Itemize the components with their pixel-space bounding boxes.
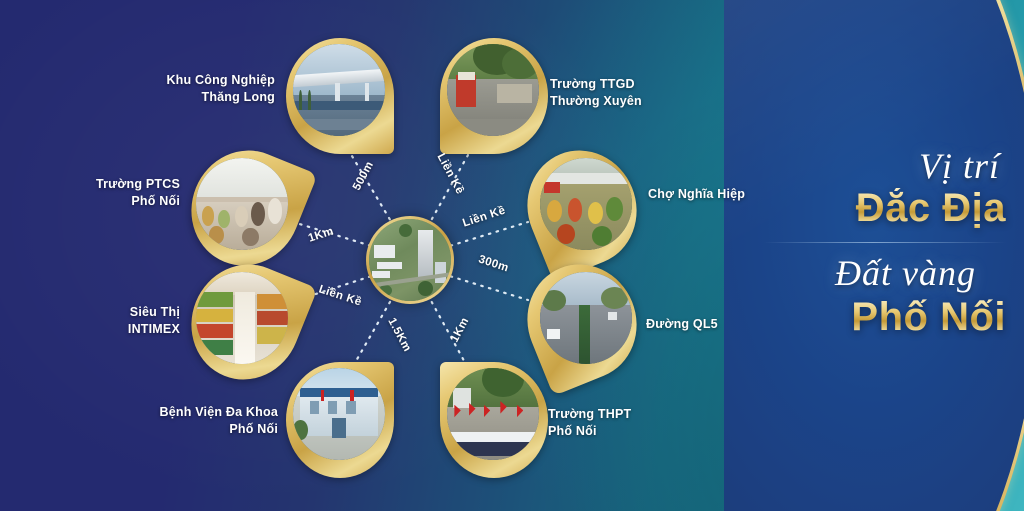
project-aerial-view: [369, 219, 451, 301]
pin-label-khu-cong-nghiep-thang-long: Khu Công Nghiệp Thăng Long: [120, 72, 275, 106]
pin-label-sieu-thi-intimex: Siêu Thị INTIMEX: [42, 304, 180, 338]
supermarket-photo: [196, 272, 288, 364]
classroom-photo: [196, 158, 288, 250]
pin-sieu-thi-intimex[interactable]: [192, 264, 300, 380]
pin-khu-cong-nghiep-thang-long[interactable]: [286, 38, 394, 154]
infographic-canvas: Vị trí Đắc Địa Đất vàng Phố Nối: [0, 0, 1024, 511]
hospital-photo: [293, 368, 385, 460]
link-duong-ql5: [443, 274, 528, 300]
hero-divider: [764, 242, 1006, 243]
pin-label-benh-vien-da-khoa-pho-noi: Bệnh Viện Đa Khoa Phố Nối: [118, 404, 278, 438]
highway-photo: [540, 272, 632, 364]
pin-label-duong-ql5: Đường QL5: [646, 316, 786, 333]
pin-label-cho-nghia-hiep: Chợ Nghĩa Hiệp: [648, 186, 798, 203]
hero-line-vi-tri: Vị trí: [746, 148, 1006, 186]
market-photo: [540, 158, 632, 250]
pin-truong-thpt-pho-noi[interactable]: [440, 362, 548, 478]
link-truong-ptcs: [293, 222, 378, 248]
pin-cho-nghia-hiep[interactable]: [528, 150, 636, 266]
link-cho-nghia-hiep: [443, 222, 528, 248]
pin-label-truong-ptcs-pho-noi: Trường PTCS Phố Nối: [30, 176, 180, 210]
center-hub[interactable]: [366, 216, 454, 304]
ceremony-photo: [447, 368, 539, 460]
pin-label-truong-ttgd-thuong-xuyen: Trường TTGD Thường Xuyên: [550, 76, 720, 110]
pin-truong-ptcs-pho-noi[interactable]: [192, 150, 300, 266]
pin-label-truong-thpt-pho-noi: Trường THPT Phố Nối: [548, 406, 708, 440]
pin-benh-vien-da-khoa-pho-noi[interactable]: [286, 362, 394, 478]
pin-truong-ttgd-thuong-xuyen[interactable]: [440, 38, 548, 154]
hero-text-block: Vị trí Đắc Địa Đất vàng Phố Nối: [746, 148, 1006, 337]
industrial-park-photo: [293, 44, 385, 136]
location-diagram: Khu Công Nghiệp Thăng Long Trường TTGD T…: [0, 0, 780, 511]
school-gate-photo: [447, 44, 539, 136]
hero-line-dat-vang: Đất vàng: [746, 255, 1006, 293]
